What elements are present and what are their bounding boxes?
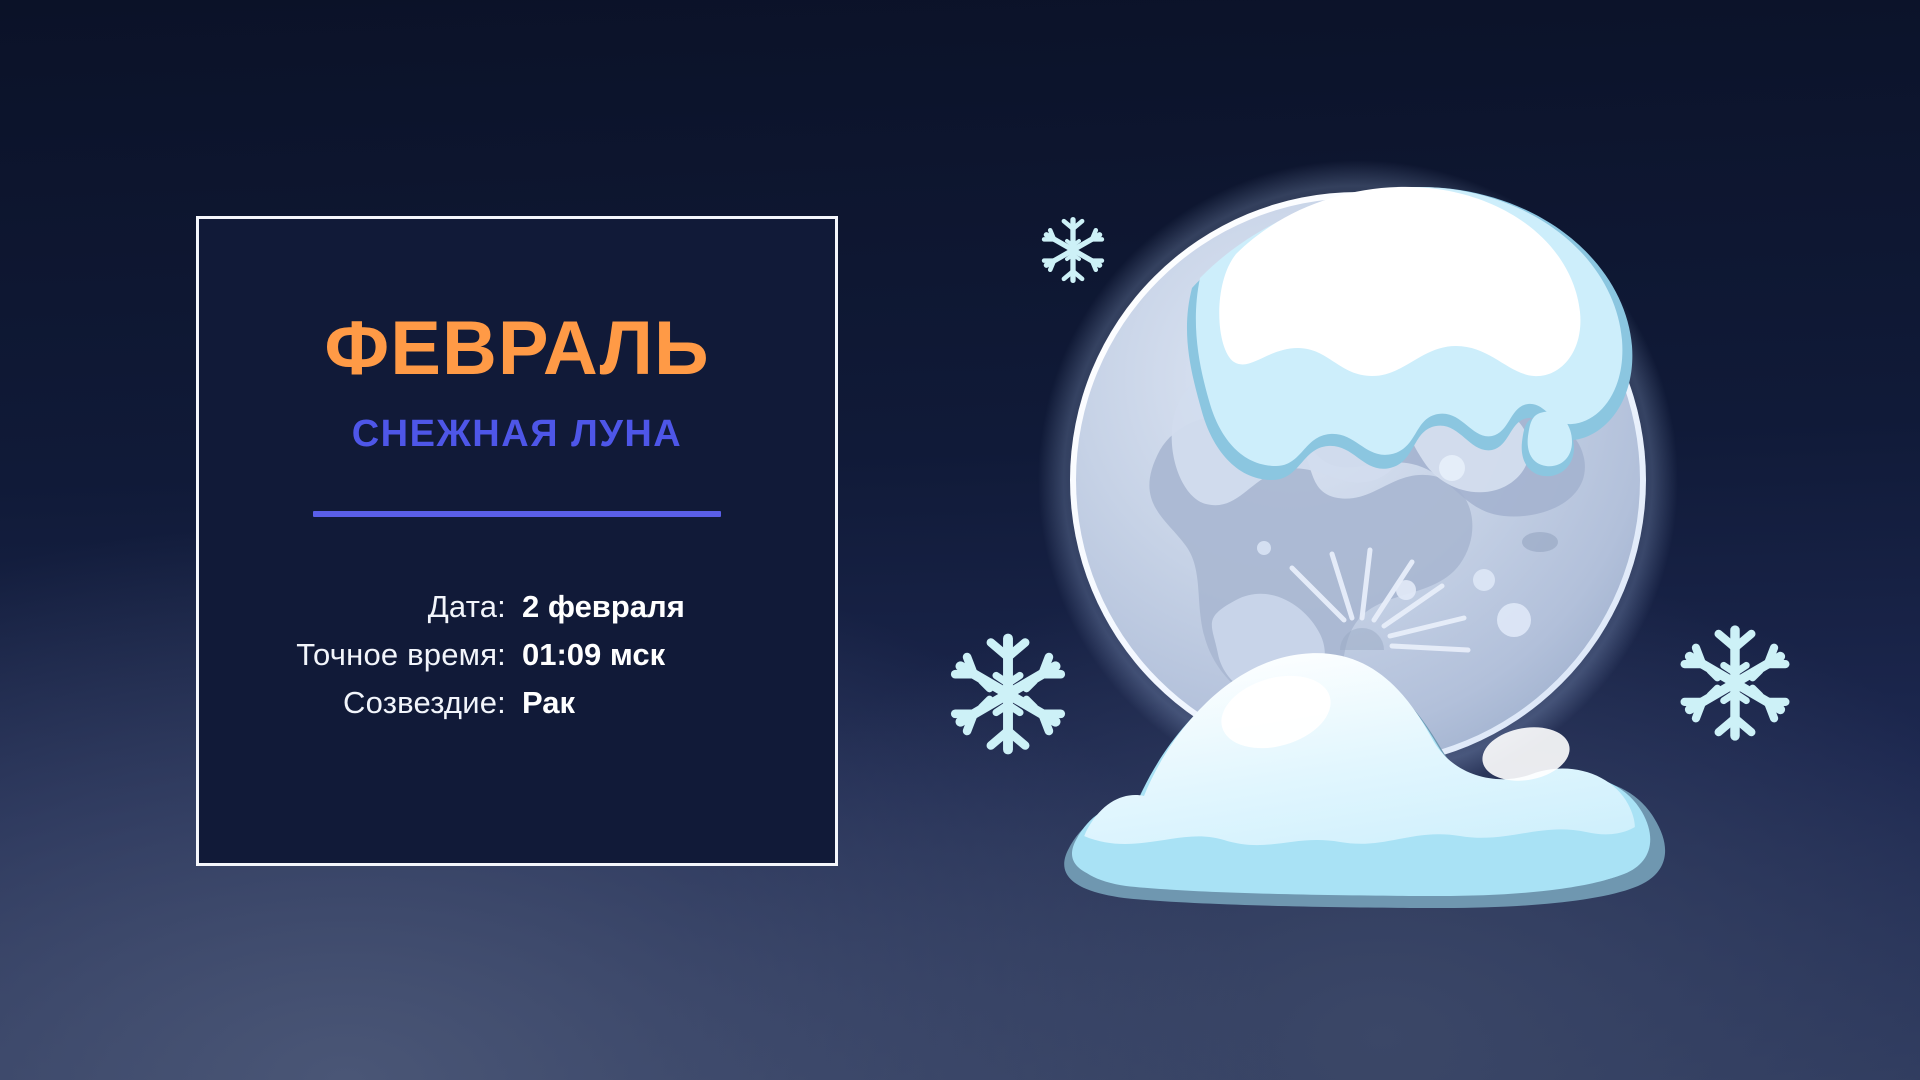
fact-value-constellation: Рак xyxy=(506,685,782,721)
month-title: ФЕВРАЛЬ xyxy=(324,311,709,387)
info-card: ФЕВРАЛЬ СНЕЖНАЯ ЛУНА Дата: 2 февраля Точ… xyxy=(196,216,838,866)
divider-rule xyxy=(313,511,721,517)
poster-stage: ФЕВРАЛЬ СНЕЖНАЯ ЛУНА Дата: 2 февраля Точ… xyxy=(0,0,1920,1080)
fact-label-time: Точное время: xyxy=(252,637,506,673)
fact-label-constellation: Созвездие: xyxy=(252,685,506,721)
fact-label-date: Дата: xyxy=(252,589,506,625)
fact-value-date: 2 февраля xyxy=(506,589,782,625)
moon-crater-dark-2 xyxy=(1522,532,1558,552)
snow-moon-illustration xyxy=(1040,150,1700,910)
snowflake-large-right-icon xyxy=(1672,620,1798,746)
fact-value-time: 01:09 мск xyxy=(506,637,782,673)
moon-crater-4 xyxy=(1497,603,1531,637)
fact-row-time: Точное время: 01:09 мск xyxy=(199,637,835,673)
moon-crater-5 xyxy=(1473,569,1495,591)
moon-name-subtitle: СНЕЖНАЯ ЛУНА xyxy=(352,415,683,453)
moon-crater-8 xyxy=(1257,541,1271,555)
facts-list: Дата: 2 февраля Точное время: 01:09 мск … xyxy=(199,589,835,721)
fact-row-date: Дата: 2 февраля xyxy=(199,589,835,625)
snowflake-small-top-icon xyxy=(1035,212,1111,288)
fact-row-constellation: Созвездие: Рак xyxy=(199,685,835,721)
info-card-content: ФЕВРАЛЬ СНЕЖНАЯ ЛУНА Дата: 2 февраля Точ… xyxy=(199,219,835,863)
snowflake-large-left-icon xyxy=(942,628,1074,760)
snow-cap-gloss xyxy=(1308,216,1432,268)
moon-crater-2 xyxy=(1439,455,1465,481)
